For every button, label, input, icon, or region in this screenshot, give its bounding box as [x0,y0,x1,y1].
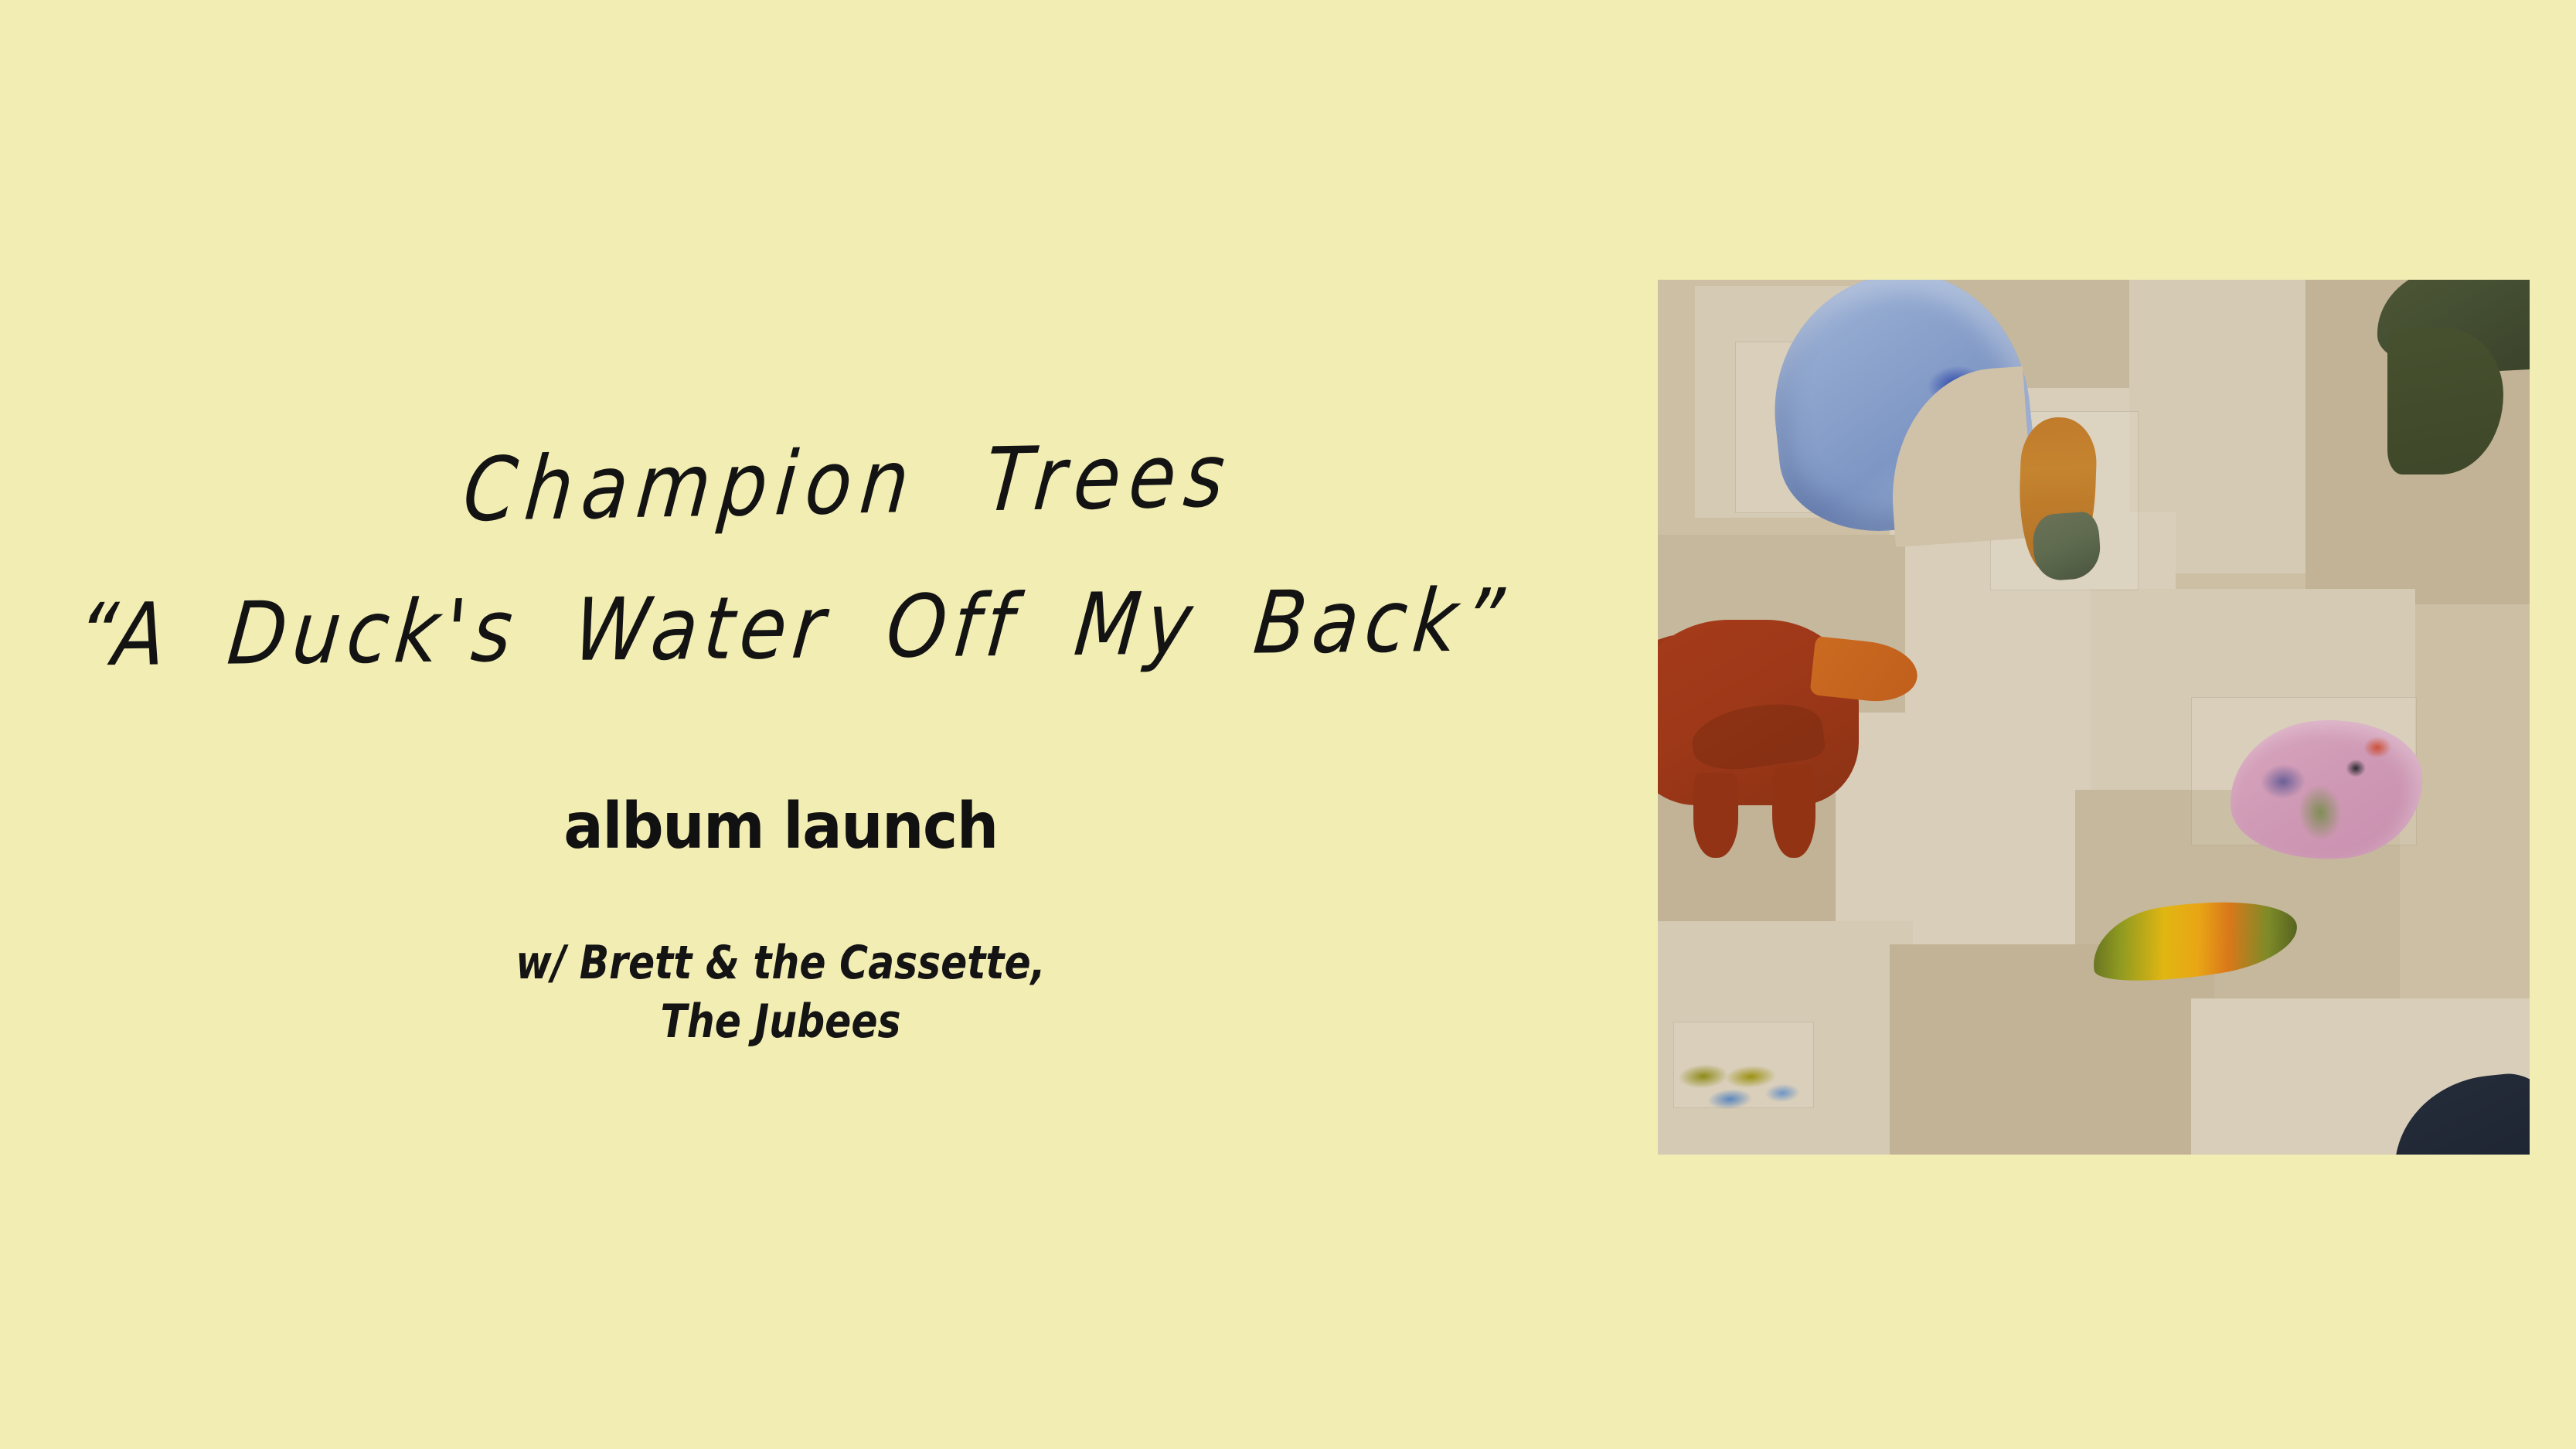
support-acts: w/ Brett & the Cassette, The Jubees [0,934,1561,1051]
artist-name-handwritten: Champion Trees [459,425,1237,542]
album-cover-artwork [1658,280,2530,1155]
olive-blue-paint-smear-shape [1671,1048,1814,1119]
support-act-line-1: w/ Brett & the Cassette, [125,934,1437,992]
event-label: album launch [55,790,1507,863]
paper-patch [1836,713,2091,944]
duck-leg-shape [1693,773,1738,858]
support-act-line-2: The Jubees [125,992,1437,1051]
album-title-handwritten: “A Duck's Water Off My Back” [73,571,1513,686]
duck-leg-shape [1772,765,1815,858]
poster-canvas: Champion Trees “A Duck's Water Off My Ba… [0,0,2576,1449]
text-column: Champion Trees “A Duck's Water Off My Ba… [0,0,1623,1449]
